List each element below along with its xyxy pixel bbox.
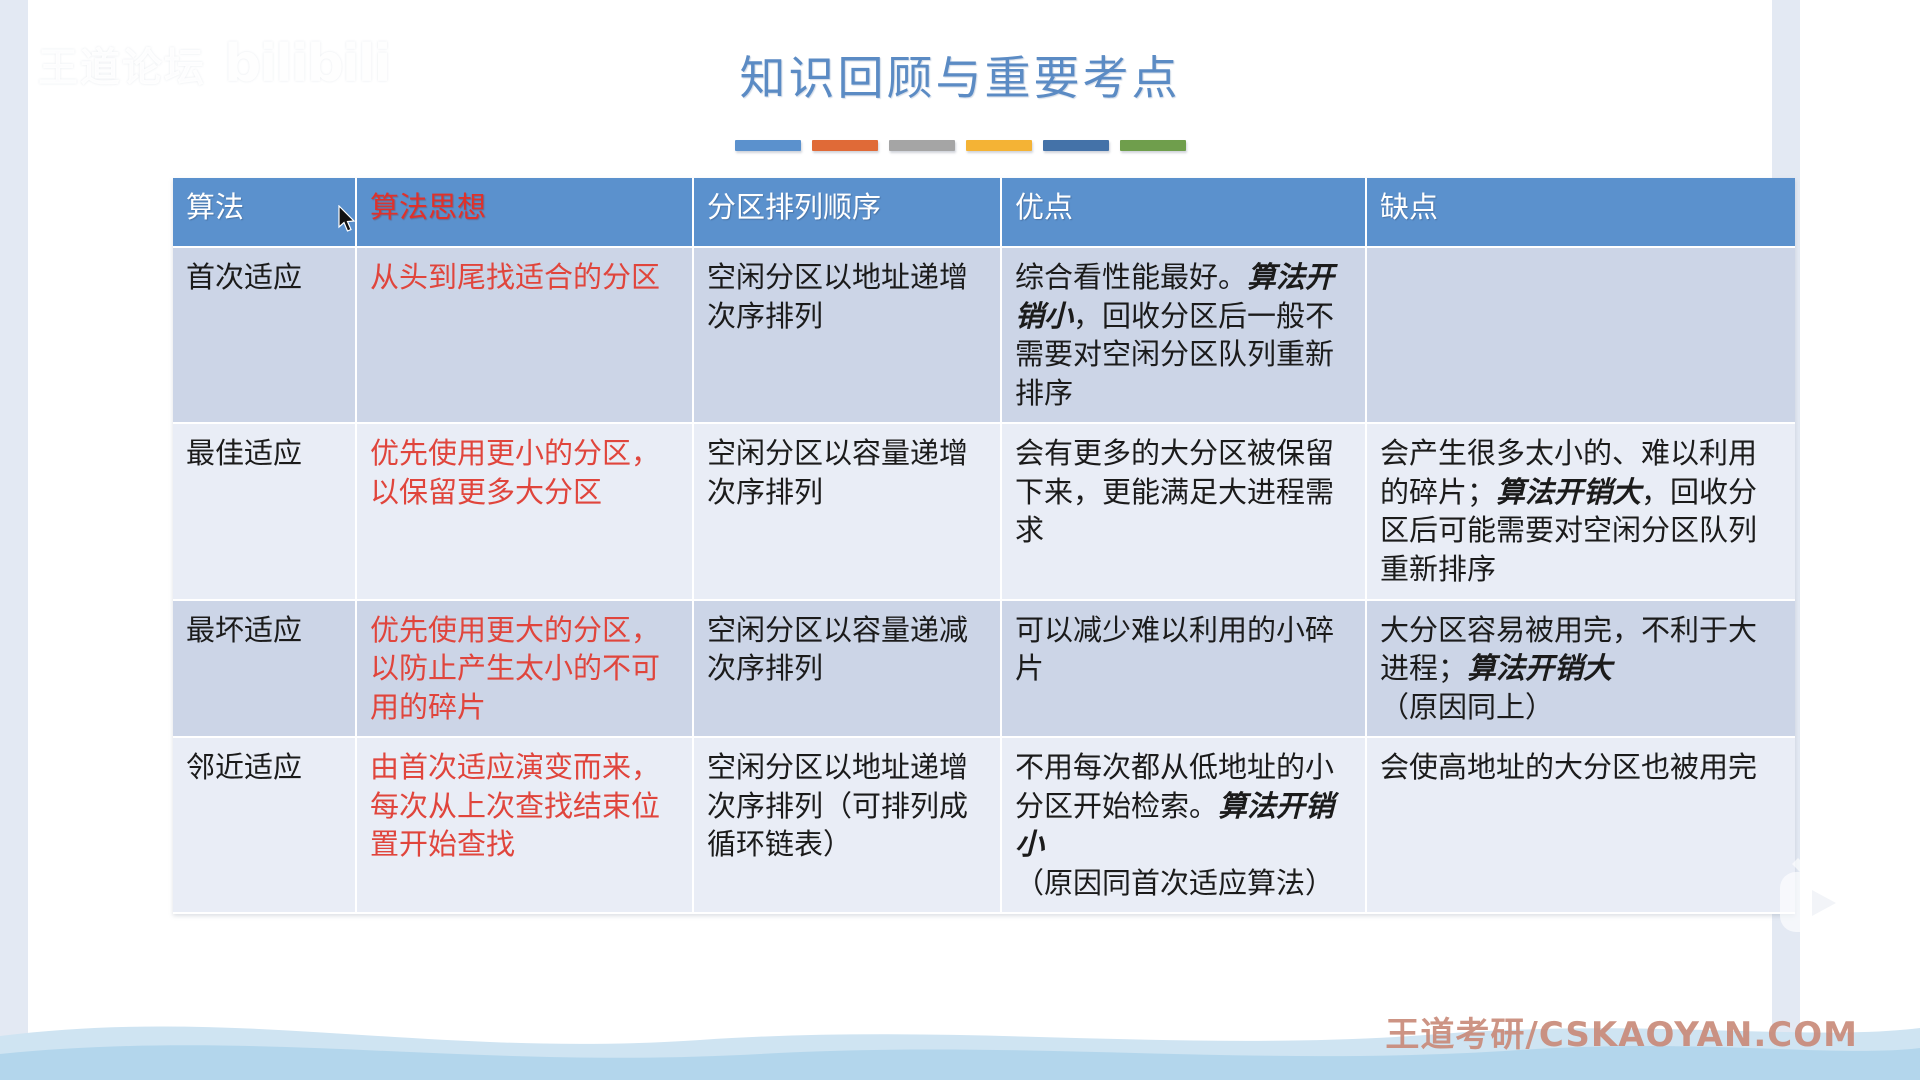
cell-algorithm: 最佳适应 xyxy=(173,423,356,599)
cell-pros: 可以减少难以利用的小碎片 xyxy=(1001,600,1366,738)
cell-pros: 综合看性能最好。算法开销小，回收分区后一般不需要对空闲分区队列重新排序 xyxy=(1001,247,1366,423)
cell-pros: 不用每次都从低地址的小分区开始检索。算法开销小（原因同首次适应算法） xyxy=(1001,737,1366,913)
cell-order: 空闲分区以地址递增次序排列 xyxy=(693,247,1001,423)
table-row: 邻近适应由首次适应演变而来，每次从上次查找结束位置开始查找空闲分区以地址递增次序… xyxy=(173,737,1795,913)
column-header-algorithm: 算法 xyxy=(173,178,356,247)
cell-cons: 大分区容易被用完，不利于大进程；算法开销大（原因同上） xyxy=(1366,600,1795,738)
cell-cons: 会使高地址的大分区也被用完 xyxy=(1366,737,1795,913)
cell-pros: 会有更多的大分区被保留下来，更能满足大进程需求 xyxy=(1001,423,1366,599)
table-header-row: 算法 算法思想 分区排列顺序 优点 缺点 xyxy=(173,178,1795,247)
cell-algorithm: 邻近适应 xyxy=(173,737,356,913)
title-underline-bars xyxy=(0,140,1920,151)
cell-order: 空闲分区以容量递减次序排列 xyxy=(693,600,1001,738)
player-letterbox-left xyxy=(0,0,28,1080)
mouse-cursor xyxy=(338,205,358,235)
column-header-order: 分区排列顺序 xyxy=(693,178,1001,247)
column-header-pros: 优点 xyxy=(1001,178,1366,247)
title-bar-1 xyxy=(735,140,801,151)
table-body: 首次适应从头到尾找适合的分区空闲分区以地址递增次序排列综合看性能最好。算法开销小… xyxy=(173,247,1795,913)
cell-order: 空闲分区以地址递增次序排列（可排列成循环链表） xyxy=(693,737,1001,913)
knowledge-comparison-table: 算法 算法思想 分区排列顺序 优点 缺点 首次适应从头到尾找适合的分区空闲分区以… xyxy=(173,178,1795,914)
cell-idea: 由首次适应演变而来，每次从上次查找结束位置开始查找 xyxy=(356,737,693,913)
cell-order: 空闲分区以容量递增次序排列 xyxy=(693,423,1001,599)
cell-idea: 从头到尾找适合的分区 xyxy=(356,247,693,423)
slide-stage: 王道论坛 bilibili 知识回顾与重要考点 算法 算法思想 分区排列顺序 优… xyxy=(0,0,1920,1080)
table-row: 首次适应从头到尾找适合的分区空闲分区以地址递增次序排列综合看性能最好。算法开销小… xyxy=(173,247,1795,423)
title-bar-2 xyxy=(812,140,878,151)
column-header-idea: 算法思想 xyxy=(356,178,693,247)
cell-algorithm: 最坏适应 xyxy=(173,600,356,738)
title-bar-5 xyxy=(1043,140,1109,151)
table-row: 最坏适应优先使用更大的分区，以防止产生太小的不可用的碎片空闲分区以容量递减次序排… xyxy=(173,600,1795,738)
cell-idea: 优先使用更小的分区，以保留更多大分区 xyxy=(356,423,693,599)
cell-idea: 优先使用更大的分区，以防止产生太小的不可用的碎片 xyxy=(356,600,693,738)
cell-cons xyxy=(1366,247,1795,423)
title-bar-3 xyxy=(889,140,955,151)
table-row: 最佳适应优先使用更小的分区，以保留更多大分区空闲分区以容量递增次序排列会有更多的… xyxy=(173,423,1795,599)
cell-algorithm: 首次适应 xyxy=(173,247,356,423)
title-bar-4 xyxy=(966,140,1032,151)
cell-cons: 会产生很多太小的、难以利用的碎片；算法开销大，回收分区后可能需要对空闲分区队列重… xyxy=(1366,423,1795,599)
column-header-cons: 缺点 xyxy=(1366,178,1795,247)
page-title: 知识回顾与重要考点 xyxy=(0,42,1920,108)
brand-footer: 王道考研/CSKAOYAN.COM xyxy=(1385,1007,1858,1056)
title-bar-6 xyxy=(1120,140,1186,151)
